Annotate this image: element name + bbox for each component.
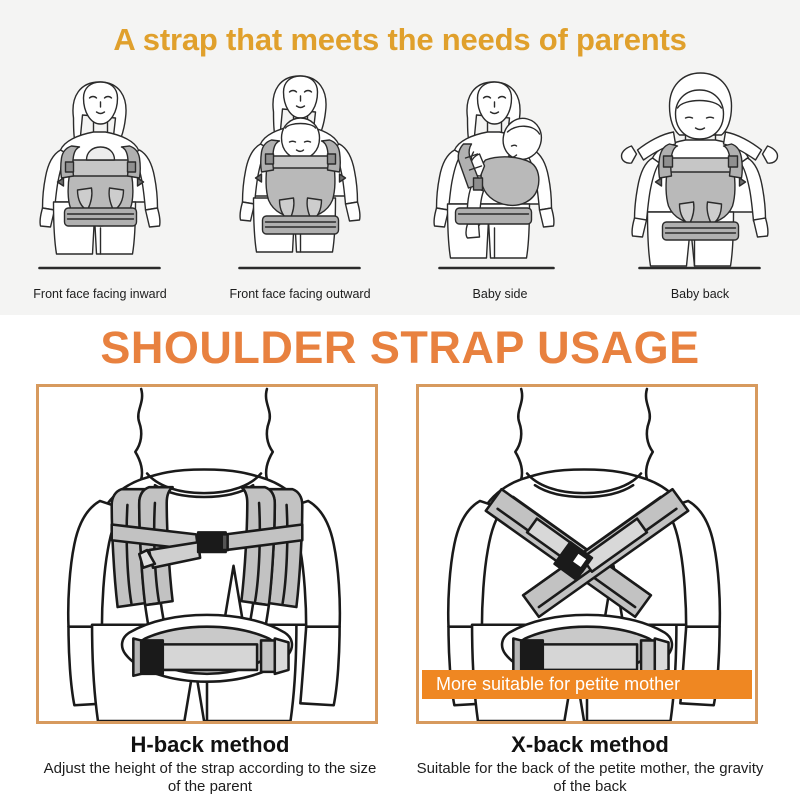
method-name: H-back method [36,732,384,758]
petite-mother-banner-text: More suitable for petite mother [436,674,680,695]
product-infographic: A strap that meets the needs of parents [0,0,800,800]
headline: A strap that meets the needs of parents [0,22,800,58]
carry-positions-row: Front face facing inward [0,62,800,307]
section-title: SHOULDER STRAP USAGE [0,322,800,374]
method-image-frame [36,384,378,724]
carry-position-caption: Baby side [400,287,600,301]
carry-position-item: Front face facing inward [0,62,200,307]
parent-baby-side-illustration [408,62,593,274]
method-image-frame: More suitable for petite mother [416,384,758,724]
parent-baby-front-outward-illustration [208,62,393,274]
carry-position-item: Front face facing outward [200,62,400,307]
methods-section: H-back method Adjust the height of the s… [0,384,800,800]
method-description: Adjust the height of the strap according… [36,760,384,797]
method-card-x-back: More suitable for petite mother X-back m… [416,384,764,800]
carry-position-item: Baby side [400,62,600,307]
parent-baby-front-inward-illustration [8,62,193,274]
parent-baby-back-illustration [608,62,793,274]
method-card-h-back: H-back method Adjust the height of the s… [36,384,384,800]
carry-position-caption: Baby back [600,287,800,301]
carry-positions-section: A strap that meets the needs of parents [0,0,800,315]
carry-position-item: Baby back [600,62,800,307]
carry-position-caption: Front face facing inward [0,287,200,301]
carry-position-caption: Front face facing outward [200,287,400,301]
back-view-h-straps-illustration [39,387,375,721]
method-name: X-back method [416,732,764,758]
method-description: Suitable for the back of the petite moth… [416,760,764,797]
petite-mother-banner: More suitable for petite mother [422,670,752,699]
